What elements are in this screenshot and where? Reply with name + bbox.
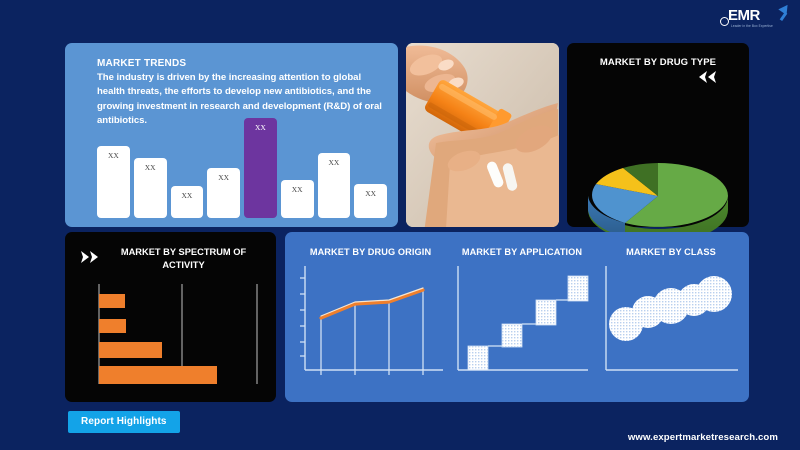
bubble-group (609, 276, 732, 341)
footer-website-url: www.expertmarketresearch.com (628, 432, 778, 443)
market-by-drug-origin-chart: MARKET BY DRUG ORIGIN (293, 232, 448, 402)
double-chevron-right-icon (79, 250, 101, 264)
market-trends-panel: MARKET TRENDS The industry is driven by … (65, 43, 398, 227)
spectrum-bar (99, 342, 162, 358)
logo-arrow-stem-icon (780, 12, 788, 21)
market-by-application-chart: MARKET BY APPLICATION (448, 232, 596, 402)
market-by-drug-origin-title: MARKET BY DRUG ORIGIN (293, 247, 448, 257)
trend-bar-highlighted: XX (244, 118, 277, 218)
spectrum-bar (99, 319, 126, 333)
bubble (696, 276, 732, 312)
logo-wordmark: EMR (728, 8, 760, 23)
pills-photo (406, 43, 559, 227)
mini-charts-panel: MARKET BY DRUG ORIGIN MARKET BY APPLICAT… (285, 232, 749, 402)
trend-bar: XX (281, 180, 314, 218)
market-trends-title: MARKET TRENDS (97, 58, 186, 69)
trend-bar: XX (171, 186, 204, 218)
trend-bar: XX (318, 153, 351, 218)
trend-bar: XX (134, 158, 167, 218)
report-highlights-button[interactable]: Report Highlights (68, 411, 180, 433)
drug-origin-line (321, 290, 423, 318)
emr-logo: EMR Leader in the Box Expertise (720, 4, 792, 38)
waterfall-bar (536, 300, 556, 325)
market-by-drug-type-panel: MARKET BY DRUG TYPE (567, 43, 749, 227)
trend-bar: XX (354, 184, 387, 218)
market-by-spectrum-panel: MARKET BY SPECTRUM OF ACTIVITY (65, 232, 276, 402)
pills-photo-panel (406, 43, 559, 227)
market-by-class-chart: MARKET BY CLASS (596, 232, 746, 402)
market-by-spectrum-title: MARKET BY SPECTRUM OF ACTIVITY (99, 246, 268, 272)
spectrum-bar (99, 294, 125, 308)
market-by-class-title: MARKET BY CLASS (596, 247, 746, 257)
waterfall-bar (468, 346, 488, 370)
market-trends-bar-chart: XX XX XX XX XX XX XX XX (97, 118, 387, 218)
market-by-drug-type-title: MARKET BY DRUG TYPE (567, 57, 749, 68)
waterfall-bar (568, 276, 588, 301)
spectrum-bar (99, 366, 217, 384)
double-chevron-left-icon (696, 70, 718, 84)
drug-type-pie-chart (585, 151, 731, 237)
trend-bar: XX (97, 146, 130, 218)
market-by-application-title: MARKET BY APPLICATION (448, 247, 596, 257)
logo-tagline: Leader in the Box Expertise (731, 24, 773, 28)
trend-bar: XX (207, 168, 240, 218)
spectrum-bar-chart (77, 284, 267, 390)
waterfall-bar (502, 324, 522, 347)
